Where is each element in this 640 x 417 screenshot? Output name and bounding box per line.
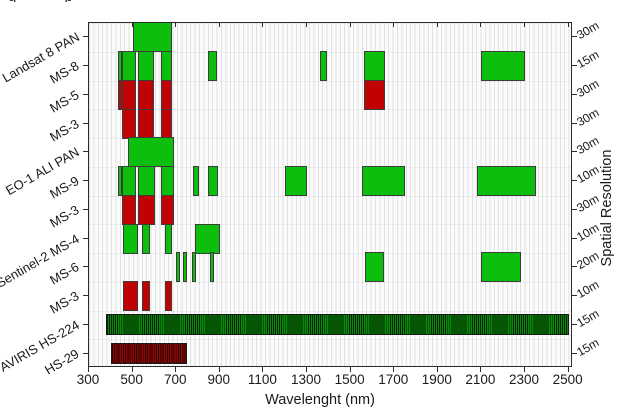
band-ms-5-3 [138,80,154,110]
band-ms-9-8 [362,166,406,196]
band-sentinel-2-ms-4-4 [195,224,220,254]
y-tick-right [572,94,577,95]
y-tick [83,353,88,354]
x-tick [480,22,481,27]
x-tick [175,22,176,27]
band-sentinel-2-ms-4-3 [165,224,172,254]
band-ms-9-6 [208,166,218,196]
y-tick [83,123,88,124]
band-ms-6-5 [365,252,385,282]
band-ms-8-4 [161,51,172,81]
band-ms-8-5 [208,51,217,81]
x-tick [393,22,394,27]
resolution-label: 30m [575,192,602,215]
band-ms-8-7 [364,51,386,81]
x-tick [524,22,525,27]
y-tick-right [572,180,577,181]
band-ms-5-5 [364,80,386,110]
y-tick-right [572,36,577,37]
band-ms-6-6 [481,252,520,282]
band-ms-3-3 [161,195,174,225]
x-tick [219,22,220,27]
resolution-label: 10m [575,221,602,244]
x-tick [262,22,263,27]
y-tick-right [572,266,577,267]
band-sentinel-2-ms-4-2 [142,224,150,254]
resolution-label: 15m [575,336,602,359]
resolution-label: 30m [575,106,602,129]
y-tick [83,180,88,181]
resolution-label: 10m [575,163,602,186]
sensor-label-ms-3: MS-3 [48,117,82,145]
band-ms-9-9 [477,166,536,196]
resolution-label: 15m [575,307,602,330]
sensor-label-ms-3: MS-3 [48,203,82,231]
resolution-label: 10m [575,278,602,301]
y-tick-right [572,151,577,152]
band-ms-3-2 [142,281,150,311]
sensor-label-ms-9: MS-9 [48,174,82,202]
band-ms-9-5 [193,166,200,196]
band-ms-9-7 [285,166,307,196]
sensor-label-ms-5: MS-5 [48,88,82,116]
x-tick-label: 2500 [538,372,598,387]
resolution-label: 30m [575,20,602,43]
y-tick-right [572,238,577,239]
band-landsat-8-pan-1 [133,22,172,52]
x-tick [88,22,89,27]
y-tick [83,94,88,95]
y-tick-right [572,123,577,124]
resolution-label: 30m [575,135,602,158]
y-tick-right [572,65,577,66]
band-sentinel-2-ms-4-1 [123,224,137,254]
band-ms-6-2 [183,252,187,282]
band-ms-3-1 [122,109,136,139]
band-ms-6-1 [176,252,180,282]
band-ms-3-3 [165,281,172,311]
y-tick [83,295,88,296]
resolution-label: 15m [575,48,602,71]
y-tick [83,266,88,267]
x-tick [437,22,438,27]
resolution-label: 20m [575,250,602,273]
y-tick-right [572,295,577,296]
x-tick [568,22,569,27]
y-tick-right [572,353,577,354]
band-ms-9-2 [122,166,136,196]
x-tick [132,22,133,27]
y-tick [83,65,88,66]
sensor-label-ms-6: MS-6 [48,260,82,288]
y-tick [83,151,88,152]
sensor-label-ms-3: MS-3 [48,289,82,317]
y-tick [83,36,88,37]
sensor-label-ms-8: MS-8 [48,59,82,87]
band-ms-8-8 [481,51,525,81]
x-axis-title: Wavelenght (nm) [0,392,640,408]
y-tick-right [572,324,577,325]
plot-area [88,22,572,367]
spectral-band-figure: g p 300500700900110013001500170019002100… [0,0,640,417]
band-ms-5-4 [161,80,172,110]
band-aviris-hs-224-1 [106,314,568,335]
y-tick [83,324,88,325]
y-tick [83,209,88,210]
y-tick-right [572,209,577,210]
band-ms-3-2 [138,109,154,139]
band-ms-5-2 [122,80,136,110]
y-tick [83,238,88,239]
sensor-label-aviris-hs-224: AVIRIS HS-224 [0,318,82,375]
resolution-label: 30m [575,77,602,100]
band-ms-6-3 [192,252,196,282]
x-tick [350,22,351,27]
band-ms-6-4 [210,252,214,282]
x-tick [306,22,307,27]
band-hs-29-1 [111,343,187,364]
band-ms-8-6 [320,51,327,81]
band-ms-3-3 [161,109,172,139]
band-ms-3-1 [123,281,137,311]
band-ms-3-2 [138,195,155,225]
band-ms-8-2 [122,51,136,81]
band-ms-8-3 [138,51,154,81]
band-eo-1-ali-pan-1 [128,137,174,167]
band-ms-9-4 [161,166,174,196]
caption-remnant: g p [8,0,95,2]
y-axis-title: Spatial Resolution [599,150,615,267]
band-ms-3-1 [122,195,136,225]
band-ms-9-3 [138,166,155,196]
